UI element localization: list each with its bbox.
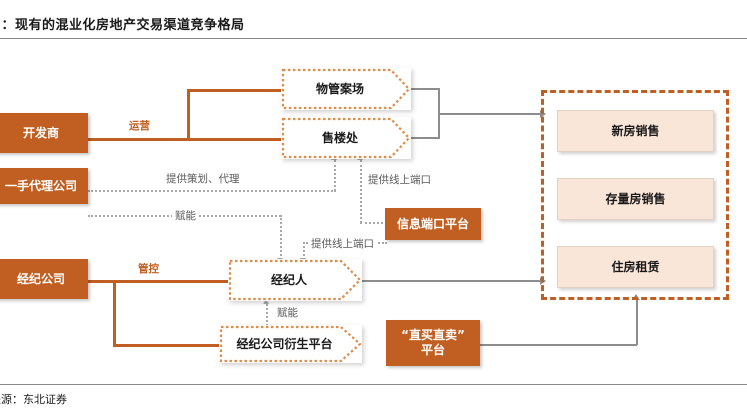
node-brokerage-company-label: 经纪公司	[17, 272, 65, 287]
source-divider-bottom	[0, 384, 747, 385]
edge-brokerage-control	[88, 280, 230, 283]
node-first-hand-agency[interactable]: 一手代理公司	[0, 168, 88, 204]
node-direct-trade-platform-label-line1: “直买直卖”	[401, 328, 465, 343]
edge-agency-empower-drop	[280, 215, 282, 263]
node-brokerage-derivative-platform[interactable]: 经纪公司衍生平台	[219, 325, 362, 363]
node-sales-office-label: 售楼处	[322, 131, 370, 146]
outcome-housing-rental[interactable]: 住房租赁	[557, 246, 714, 288]
edge-infoport-to-office-riser	[360, 160, 362, 223]
node-first-hand-agency-label: 一手代理公司	[5, 179, 77, 194]
node-info-port-platform[interactable]: 信息端口平台	[385, 208, 481, 240]
edge-direct-trade-out	[480, 344, 637, 346]
edge-label-provide-online-port-lower: 提供线上端口	[308, 236, 377, 251]
title-divider-top	[0, 38, 747, 39]
outcome-new-home-sales-label: 新房销售	[611, 124, 659, 139]
outcome-new-home-sales[interactable]: 新房销售	[557, 110, 714, 152]
edge-direct-trade-riser	[636, 298, 638, 345]
node-brokerage-company[interactable]: 经纪公司	[0, 259, 88, 299]
edge-developer-trunk	[88, 138, 190, 141]
figure-source: 来源：东北证券	[0, 391, 67, 407]
figure-title: 7：现有的混业化房地产交易渠道竞争格局	[0, 14, 245, 33]
node-info-port-platform-label: 信息端口平台	[397, 217, 469, 232]
edge-developer-to-sales-office	[187, 138, 283, 141]
edge-label-provide-online-port-upper: 提供线上端口	[365, 172, 434, 187]
node-broker[interactable]: 经纪人	[228, 259, 362, 301]
edge-label-provide-planning-agency: 提供策划、代理	[163, 171, 243, 186]
edge-infoport-to-office-stub	[360, 222, 387, 224]
outcome-housing-rental-label: 住房租赁	[611, 260, 659, 275]
outcome-existing-home-sales[interactable]: 存量房销售	[557, 178, 714, 220]
node-property-management-site[interactable]: 物管案场	[281, 68, 411, 110]
edge-developer-to-property-site	[187, 89, 283, 92]
figure-canvas: 7：现有的混业化房地产交易渠道竞争格局 来源：东北证券 运营 管控 提供策划、代…	[0, 0, 747, 415]
edge-label-control: 管控	[135, 261, 162, 276]
edge-broker-to-outcomes	[360, 280, 542, 282]
edge-agency-planning-riser	[334, 160, 336, 191]
edge-agency-planning	[88, 190, 336, 192]
node-sales-office[interactable]: 售楼处	[281, 117, 411, 159]
edge-label-empower-broker: 赋能	[274, 305, 301, 320]
node-developer[interactable]: 开发商	[0, 113, 88, 153]
edge-brokerage-to-derivative-platform	[113, 344, 221, 347]
edge-label-empower-agency: 赋能	[172, 208, 199, 223]
node-developer-label: 开发商	[23, 126, 59, 141]
edge-developer-riser	[187, 89, 190, 141]
node-broker-label: 经纪人	[271, 273, 319, 288]
edge-label-operate: 运营	[126, 118, 153, 133]
outcome-existing-home-sales-label: 存量房销售	[605, 192, 665, 207]
node-brokerage-derivative-platform-label: 经纪公司衍生平台	[236, 337, 344, 352]
node-property-management-site-label: 物管案场	[316, 82, 376, 97]
edge-brokerage-riser-down	[113, 280, 116, 346]
edge-new-home-sales-feed	[438, 113, 542, 115]
node-direct-trade-platform-label-line2: 平台	[421, 343, 445, 358]
node-direct-trade-platform[interactable]: “直买直卖” 平台	[386, 320, 480, 366]
